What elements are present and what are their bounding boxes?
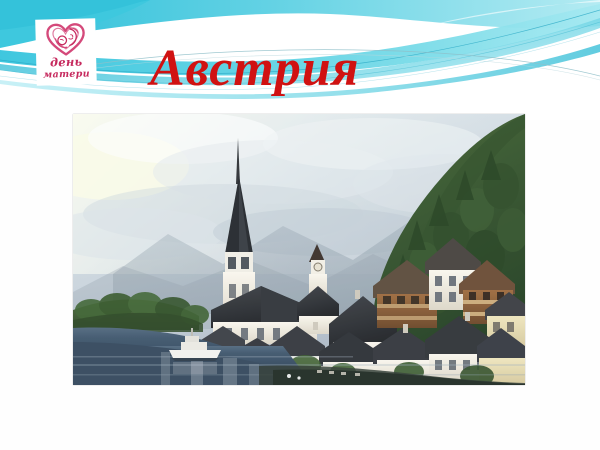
- presentation-slide: день матери Австрия: [0, 0, 600, 450]
- hallstatt-photo: [73, 114, 525, 385]
- logo-line-den: день: [50, 57, 83, 69]
- den-materi-logo: день матери: [35, 18, 97, 85]
- logo-line-materi: матери: [43, 69, 90, 80]
- page-title: Австрия: [150, 38, 480, 100]
- heart-mother-child-icon: [45, 23, 86, 57]
